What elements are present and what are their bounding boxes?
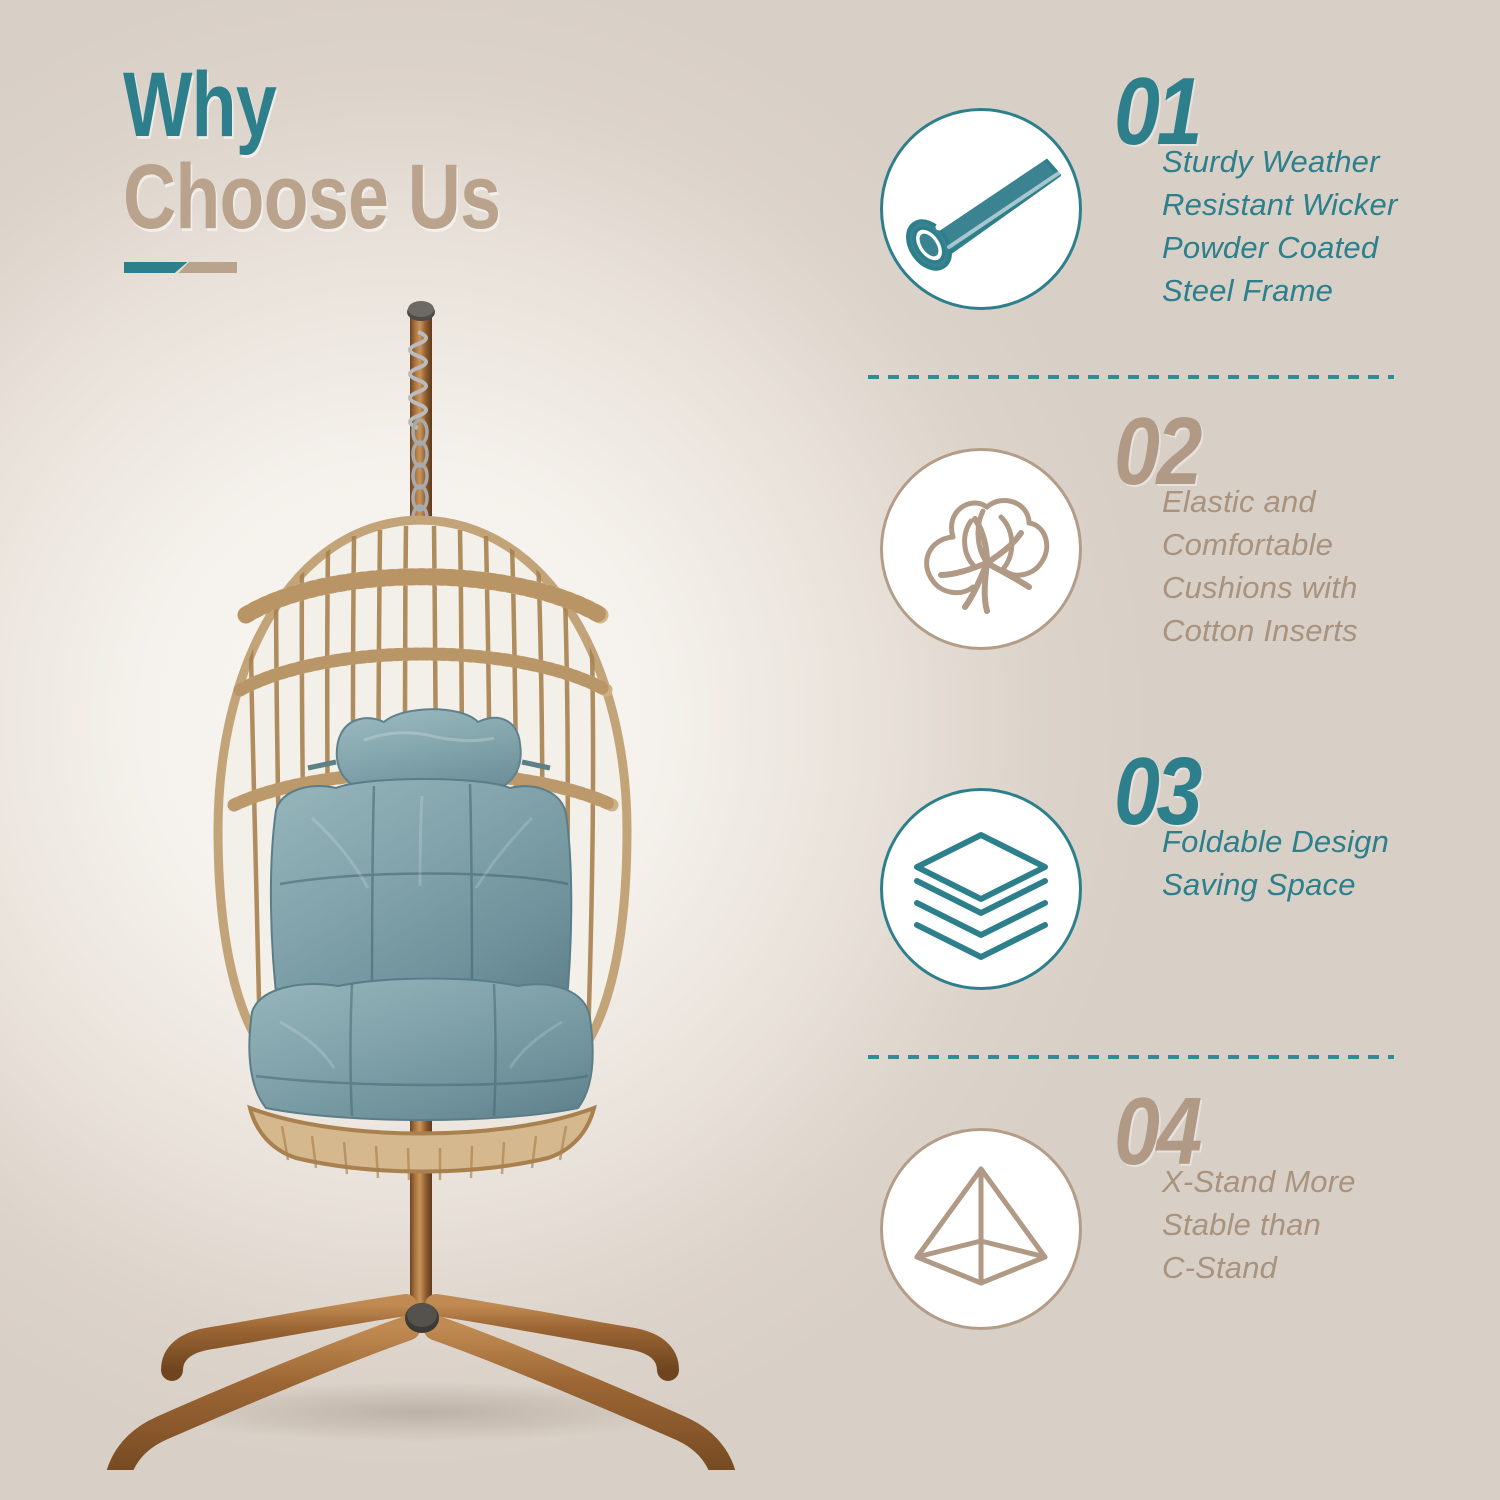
pyramid-icon <box>883 1131 1079 1327</box>
feature-number-01: 01 <box>1114 70 1372 154</box>
feature-icon-circle-01 <box>880 108 1082 310</box>
layers-icon <box>883 791 1079 987</box>
feature-text-04: X-Stand More Stable than C-Stand <box>1162 1160 1414 1289</box>
pole-cap-top <box>408 301 434 317</box>
feature-body-01: 01 Sturdy Weather Resistant Wicker Powde… <box>1114 70 1414 312</box>
feature-number-02: 02 <box>1114 410 1372 494</box>
product-image <box>100 270 740 1470</box>
feature-text-01: Sturdy Weather Resistant Wicker Powder C… <box>1162 140 1414 312</box>
feature-item-04[interactable]: 04 X-Stand More Stable than C-Stand <box>868 1090 1408 1430</box>
seat-cushion <box>249 979 592 1121</box>
feature-item-01[interactable]: 01 Sturdy Weather Resistant Wicker Powde… <box>868 70 1408 410</box>
feature-icon-circle-02 <box>880 448 1082 650</box>
feature-icon-circle-03 <box>880 788 1082 990</box>
feature-body-03: 03 Foldable Design Saving Space <box>1114 750 1414 906</box>
page-title-line-2: Choose Us <box>123 154 571 240</box>
infographic-canvas: Why Choose Us <box>0 0 1500 1500</box>
feature-text-02: Elastic and Comfortable Cushions with Co… <box>1162 480 1414 652</box>
feature-divider-1 <box>868 375 1394 379</box>
feature-item-02[interactable]: 02 Elastic and Comfortable Cushions with… <box>868 410 1408 750</box>
feature-number-04: 04 <box>1114 1090 1372 1174</box>
feature-body-04: 04 X-Stand More Stable than C-Stand <box>1114 1090 1414 1289</box>
page-title: Why Choose Us <box>123 62 683 241</box>
feature-list: 01 Sturdy Weather Resistant Wicker Powde… <box>868 70 1408 1430</box>
feature-body-02: 02 Elastic and Comfortable Cushions with… <box>1114 410 1414 652</box>
feature-item-03[interactable]: 03 Foldable Design Saving Space <box>868 750 1408 1090</box>
cotton-flower-icon <box>883 451 1079 647</box>
page-title-line-1: Why <box>123 62 571 148</box>
pipe-icon <box>883 111 1079 307</box>
feature-icon-circle-04 <box>880 1128 1082 1330</box>
egg-swing-chair-illustration <box>100 270 740 1470</box>
feature-number-03: 03 <box>1114 750 1372 834</box>
